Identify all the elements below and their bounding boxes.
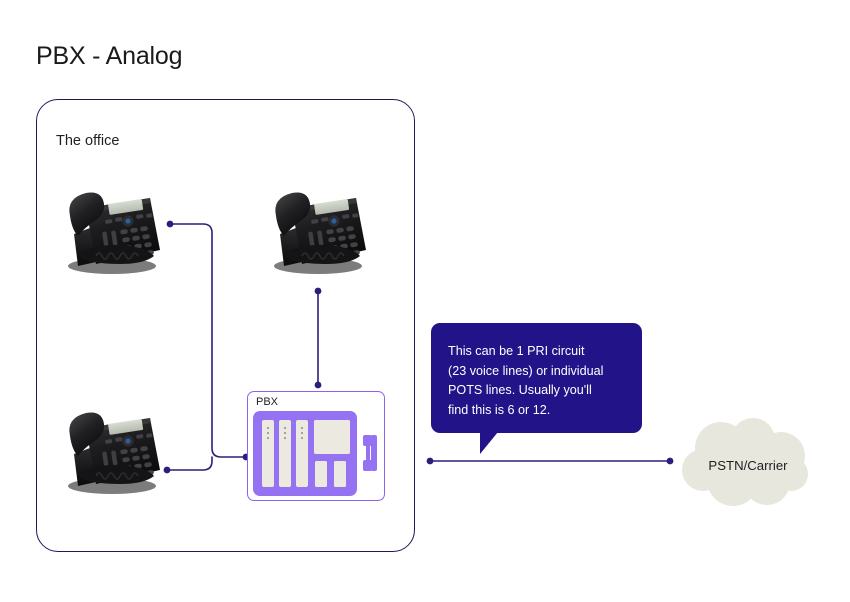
pbx-line-cards (262, 420, 308, 487)
pbx-module-left (315, 461, 327, 487)
pbx-module-right (334, 461, 346, 487)
pbx-handset-glyph (363, 435, 377, 471)
callout-text: This can be 1 PRI circuit (23 voice line… (448, 342, 630, 420)
link-endpoint-dot (667, 458, 674, 465)
desk-phone-icon (56, 398, 168, 498)
pbx-label: PBX (256, 396, 278, 408)
cloud-label: PSTN/Carrier (681, 458, 815, 473)
callout-tail (480, 432, 498, 454)
link-endpoint-dot (427, 458, 434, 465)
pbx-chassis-icon (253, 411, 381, 496)
phone-nav-center (125, 438, 130, 443)
pbx-control-panel (314, 420, 350, 454)
page-title: PBX - Analog (36, 42, 182, 71)
desk-phone-icon (262, 178, 374, 278)
office-label: The office (56, 133, 119, 149)
diagram-canvas: PBX - Analog The office (0, 0, 850, 602)
phone-nav-center (125, 218, 130, 223)
desk-phone-icon (56, 178, 168, 278)
phone-nav-center (331, 218, 336, 223)
